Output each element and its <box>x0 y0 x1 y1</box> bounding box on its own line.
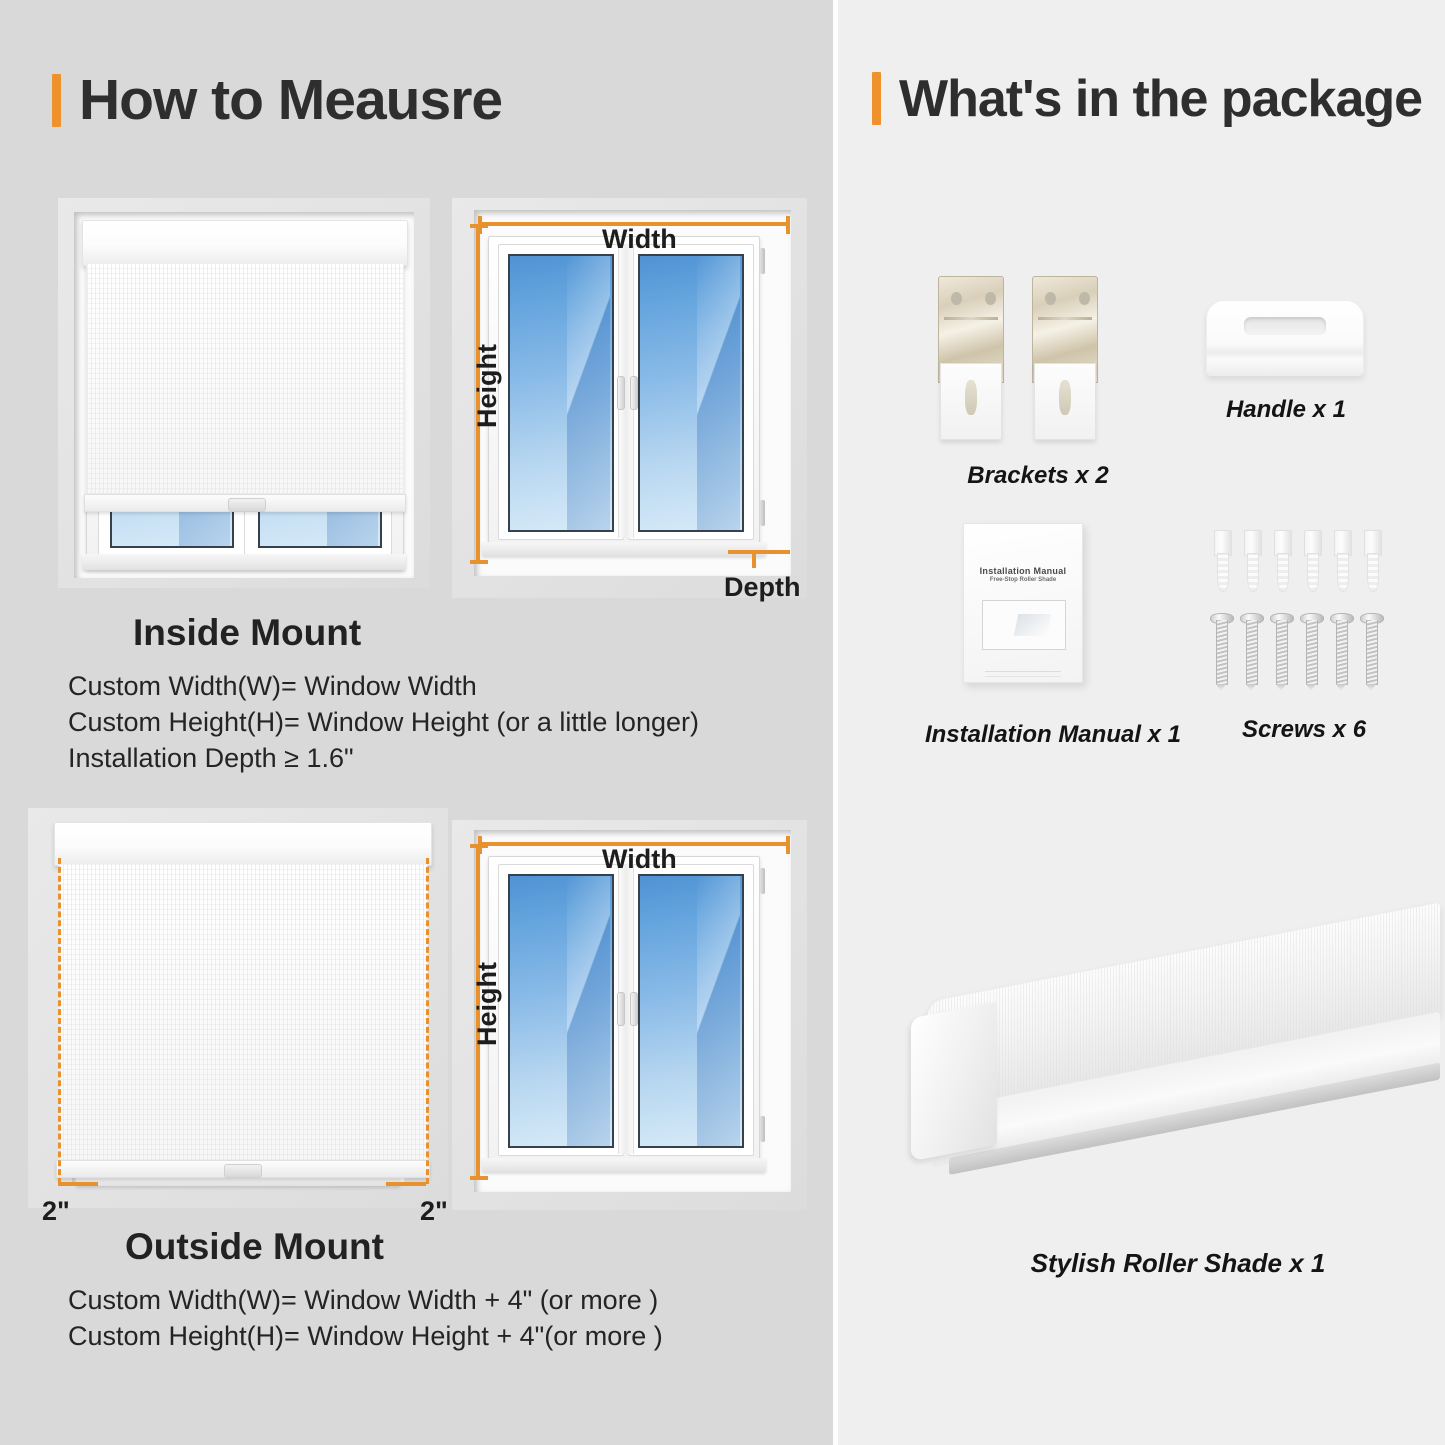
outside-mount-measure-diagram: Width Height <box>452 820 807 1210</box>
overhang-right-label: 2" <box>420 1196 448 1227</box>
window-handle-right <box>630 376 638 410</box>
roller-shade-end-cap <box>911 1002 997 1162</box>
manual-cover-illustration <box>982 600 1066 650</box>
inside-mount-spec-1: Custom Height(H)= Window Height (or a li… <box>68 707 699 738</box>
screw-tip <box>1306 684 1316 691</box>
window-handles <box>617 992 638 1026</box>
handle-label: Handle x 1 <box>1196 396 1376 424</box>
manual-cover-subtitle: Free-Stop Roller Shade <box>973 577 1074 583</box>
height-label: Height <box>472 344 503 428</box>
overhang-measure-left <box>58 1182 98 1186</box>
brackets-label: Brackets x 2 <box>948 462 1128 490</box>
bracket-white-base <box>940 363 1002 440</box>
screw-shaft <box>1366 620 1378 685</box>
manual-cover-title: Installation Manual <box>973 566 1074 576</box>
depth-measure-line <box>728 550 790 554</box>
screw-icon <box>1270 613 1292 691</box>
depth-tick <box>752 550 756 568</box>
width-tick-right <box>786 836 790 854</box>
width-label: Width <box>602 224 677 255</box>
accent-bar-icon <box>872 72 881 125</box>
height-tick-bottom <box>470 1176 488 1180</box>
roller-shade-icon <box>900 880 1440 1220</box>
screw-shaft <box>1276 620 1288 685</box>
inside-mount-spec-2: Installation Depth ≥ 1.6" <box>68 743 354 774</box>
height-label: Height <box>472 962 503 1046</box>
screw-icon <box>1360 613 1382 691</box>
window-handles <box>617 376 638 410</box>
shade-fabric <box>86 264 404 494</box>
outside-mount-spec-0: Custom Width(W)= Window Width + 4" (or m… <box>68 1285 658 1316</box>
infographic-page: How to Meausre <box>0 0 1445 1445</box>
window-glass-left <box>508 874 614 1148</box>
wall-anchor-icon <box>1359 530 1385 590</box>
anchor-body <box>1307 553 1319 592</box>
shade-headrail <box>82 220 408 266</box>
window-hinge-top-right <box>760 868 765 894</box>
window-glass-right <box>638 874 744 1148</box>
manual-icon: Installation Manual Free-Stop Roller Sha… <box>963 523 1083 683</box>
window-handle-left <box>617 376 625 410</box>
anchor-body <box>1277 553 1289 592</box>
height-tick-top <box>470 844 488 848</box>
bracket-icon <box>1032 276 1096 440</box>
height-tick-top <box>470 224 488 228</box>
anchor-body <box>1247 553 1259 592</box>
wall-anchor-icon <box>1209 530 1235 590</box>
inside-mount-spec-0: Custom Width(W)= Window Width <box>68 671 477 702</box>
screw-shaft <box>1306 620 1318 685</box>
whats-in-package-heading: What's in the package <box>872 72 1422 125</box>
bracket-white-base <box>1034 363 1096 440</box>
window-sill <box>482 542 766 556</box>
window-hinge-bottom-right <box>760 500 765 526</box>
outside-mount-spec-1: Custom Height(H)= Window Height + 4"(or … <box>68 1321 663 1352</box>
inside-mount-measure-diagram: Width Height Depth <box>452 198 807 598</box>
width-label: Width <box>602 844 677 875</box>
width-tick-right <box>786 216 790 234</box>
window-handle-right <box>630 992 638 1026</box>
screw-shaft <box>1336 620 1348 685</box>
handle-body <box>1206 300 1364 376</box>
window-glass-left <box>508 254 614 532</box>
outside-mount-title: Outside Mount <box>125 1226 384 1268</box>
shade-pull-tab <box>228 498 266 512</box>
screws-label: Screws x 6 <box>1204 716 1404 744</box>
anchor-body <box>1337 553 1349 592</box>
height-tick-bottom <box>470 560 488 564</box>
shade-headrail <box>54 822 432 866</box>
overhang-left-label: 2" <box>42 1196 70 1227</box>
screw-icon <box>1300 613 1322 691</box>
overhang-measure-right <box>386 1182 426 1186</box>
anchor-body <box>1367 553 1379 592</box>
whats-in-package-title: What's in the package <box>899 73 1422 125</box>
window-sill <box>82 554 406 570</box>
window-sill <box>482 1158 766 1172</box>
bracket-icon <box>938 276 1002 440</box>
handle-icon <box>1206 300 1364 376</box>
inside-mount-title: Inside Mount <box>133 612 361 654</box>
screw-shaft <box>1216 620 1228 685</box>
screw-tip <box>1276 684 1286 691</box>
handle-slot <box>1244 317 1326 335</box>
wall-anchor-icon <box>1269 530 1295 590</box>
window-glass-right <box>638 254 744 532</box>
screw-tip <box>1216 684 1226 691</box>
accent-bar-icon <box>52 74 61 127</box>
anchor-body <box>1217 553 1229 592</box>
screw-icon <box>1330 613 1352 691</box>
wall-anchor-icon <box>1299 530 1325 590</box>
shade-fabric <box>58 864 428 1160</box>
overhang-guide-right <box>426 858 429 1184</box>
screw-tip <box>1336 684 1346 691</box>
roller-shade-skewed-group <box>900 828 1440 1273</box>
window-hinge-bottom-right <box>760 1116 765 1142</box>
screw-icon <box>1240 613 1262 691</box>
depth-label: Depth <box>724 572 801 603</box>
screw-shaft <box>1246 620 1258 685</box>
inside-mount-shade-diagram <box>58 198 430 588</box>
how-to-measure-title: How to Meausre <box>79 72 502 129</box>
manual-label: Installation Manual x 1 <box>908 721 1198 749</box>
window-handle-left <box>617 992 625 1026</box>
panel-divider <box>833 0 838 1445</box>
screw-icon <box>1210 613 1232 691</box>
roller-shade-label: Stylish Roller Shade x 1 <box>968 1248 1388 1279</box>
shade-pull-tab <box>224 1164 262 1178</box>
how-to-measure-heading: How to Meausre <box>52 72 502 129</box>
wall-anchor-icon <box>1329 530 1355 590</box>
wall-anchor-icon <box>1239 530 1265 590</box>
screw-tip <box>1366 684 1376 691</box>
manual-cover-footer <box>985 671 1062 672</box>
screw-tip <box>1246 684 1256 691</box>
overhang-guide-left <box>58 858 61 1184</box>
window-hinge-top-right <box>760 248 765 274</box>
outside-mount-shade-diagram <box>28 808 448 1208</box>
